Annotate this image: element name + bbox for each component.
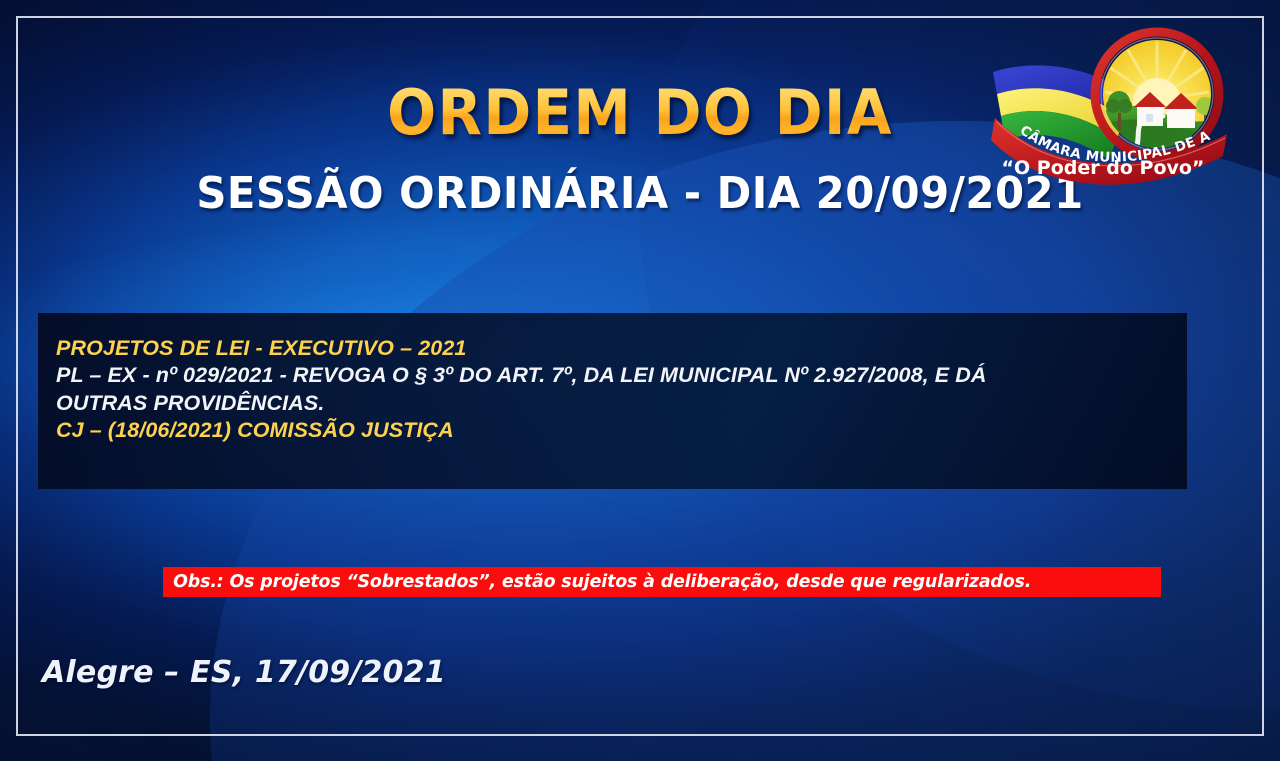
agenda-text-block: PROJETOS DE LEI - EXECUTIVO – 2021 PL – …	[56, 335, 1175, 444]
agenda-panel: PROJETOS DE LEI - EXECUTIVO – 2021 PL – …	[38, 313, 1187, 489]
observation-banner: Obs.: Os projetos “Sobrestados”, estão s…	[163, 567, 1161, 597]
agenda-line-bill: PL – EX - nº 029/2021 - REVOGA O § 3º DO…	[56, 362, 1175, 389]
agenda-line-bill-cont: OUTRAS PROVIDÊNCIAS.	[56, 390, 1175, 417]
agenda-line-heading: PROJETOS DE LEI - EXECUTIVO – 2021	[56, 335, 1175, 362]
camara-municipal-alegre-logo: CÂMARA MUNICIPAL DE ALEGRE - ES “O Poder…	[985, 22, 1245, 200]
footer-place-date: Alegre – ES, 17/09/2021	[42, 655, 446, 690]
agenda-line-committee: CJ – (18/06/2021) COMISSÃO JUSTIÇA	[56, 417, 1175, 444]
slide-root: ORDEM DO DIA SESSÃO ORDINÁRIA - DIA 20/0…	[0, 0, 1280, 761]
logo-motto: “O Poder do Povo”	[1002, 157, 1205, 179]
observation-text: Obs.: Os projetos “Sobrestados”, estão s…	[173, 572, 1031, 592]
